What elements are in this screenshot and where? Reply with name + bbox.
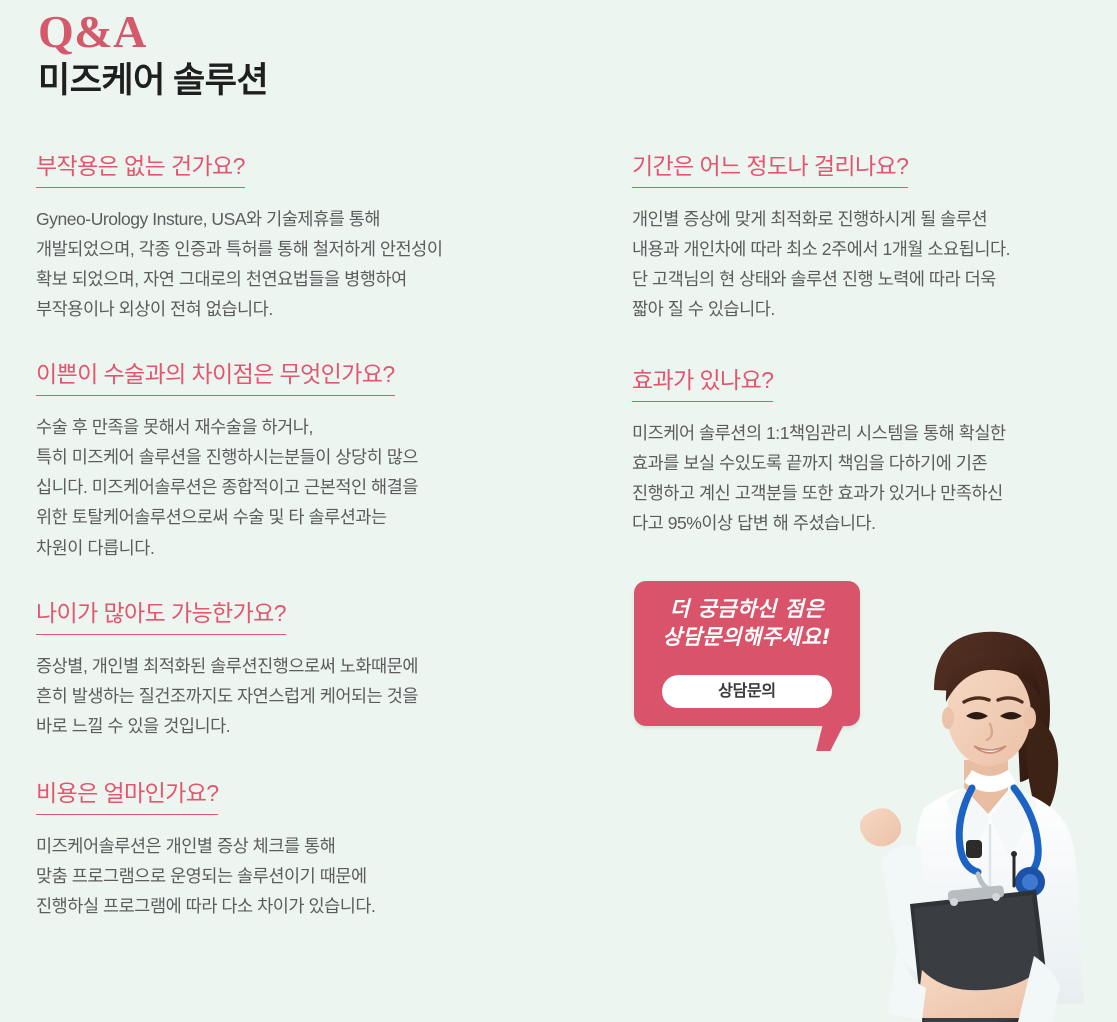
qa-answer: 수술 후 만족을 못해서 재수술을 하거나, 특히 미즈케어 솔루션을 진행하시… — [36, 412, 506, 562]
qa-answer-line: 개인별 증상에 맞게 최적화로 진행하시게 될 솔루션 — [632, 204, 1062, 234]
qa-question[interactable]: 효과가 있나요? — [632, 366, 773, 402]
qa-answer-line: 흔히 발생하는 질건조까지도 자연스럽게 케어되는 것을 — [36, 681, 506, 711]
qa-page: Q&A 미즈케어 솔루션 부작용은 없는 건가요? Gyneo-Urology … — [0, 0, 1117, 1022]
qa-answer-line: 증상별, 개인별 최적화된 솔루션진행으로써 노화때문에 — [36, 651, 506, 681]
qa-answer-line: 특히 미즈케어 솔루션을 진행하시는분들이 상당히 많으 — [36, 442, 506, 472]
qa-answer-line: 차원이 다릅니다. — [36, 533, 506, 563]
qa-item: 나이가 많아도 가능한가요? 증상별, 개인별 최적화된 솔루션진행으로써 노화… — [36, 599, 506, 741]
page-header: Q&A 미즈케어 솔루션 — [38, 8, 268, 102]
qa-answer-line: 확보 되었으며, 자연 그대로의 천연요법들을 병행하여 — [36, 264, 506, 294]
qa-answer-line: 미즈케어솔루션은 개인별 증상 체크를 통해 — [36, 831, 506, 861]
bubble-line-2: 상담문의해주세요! — [634, 623, 860, 651]
consultation-button[interactable]: 상담문의 — [662, 675, 832, 708]
qa-answer-line: 미즈케어 솔루션의 1:1책임관리 시스템을 통해 확실한 — [632, 418, 1062, 448]
page-subtitle: 미즈케어 솔루션 — [38, 60, 268, 102]
qa-item: 이쁜이 수술과의 차이점은 무엇인가요? 수술 후 만족을 못해서 재수술을 하… — [36, 360, 506, 562]
qa-answer-line: 짧아 질 수 있습니다. — [632, 294, 1062, 324]
qa-answer-line: 십니다. 미즈케어솔루션은 종합적이고 근본적인 해결을 — [36, 472, 506, 502]
qa-question[interactable]: 비용은 얼마인가요? — [36, 779, 218, 815]
qa-answer-line: 개발되었으며, 각종 인증과 특허를 통해 철저하게 안전성이 — [36, 234, 506, 264]
qa-item: 효과가 있나요? 미즈케어 솔루션의 1:1책임관리 시스템을 통해 확실한 효… — [632, 366, 1062, 538]
qa-answer: 개인별 증상에 맞게 최적화로 진행하시게 될 솔루션 내용과 개인차에 따라 … — [632, 204, 1062, 324]
qa-question[interactable]: 이쁜이 수술과의 차이점은 무엇인가요? — [36, 360, 395, 396]
qa-question[interactable]: 부작용은 없는 건가요? — [36, 152, 245, 188]
qa-answer-line: 부작용이나 외상이 전혀 없습니다. — [36, 294, 506, 324]
qa-answer-line: 진행하고 계신 고객분들 또한 효과가 있거나 만족하신 — [632, 478, 1062, 508]
bubble-line-1: 더 궁금하신 점은 — [634, 595, 860, 623]
qa-column-right: 기간은 어느 정도나 걸리나요? 개인별 증상에 맞게 최적화로 진행하시게 될… — [632, 152, 1062, 573]
doctor-photo — [838, 612, 1117, 1022]
qa-answer: 미즈케어 솔루션의 1:1책임관리 시스템을 통해 확실한 효과를 보실 수있도… — [632, 418, 1062, 538]
qa-answer-line: Gyneo-Urology Insture, USA와 기술제휴를 통해 — [36, 204, 506, 234]
qa-item: 비용은 얼마인가요? 미즈케어솔루션은 개인별 증상 체크를 통해 맞춤 프로그… — [36, 779, 506, 921]
qa-question[interactable]: 나이가 많아도 가능한가요? — [36, 599, 286, 635]
qa-item: 기간은 어느 정도나 걸리나요? 개인별 증상에 맞게 최적화로 진행하시게 될… — [632, 152, 1062, 324]
qa-answer-line: 위한 토탈케어솔루션으로써 수술 및 타 솔루션과는 — [36, 502, 506, 532]
doctor-illustration-icon — [838, 612, 1117, 1022]
qa-answer: Gyneo-Urology Insture, USA와 기술제휴를 통해 개발되… — [36, 204, 506, 324]
qa-answer: 증상별, 개인별 최적화된 솔루션진행으로써 노화때문에 흔히 발생하는 질건조… — [36, 651, 506, 741]
qa-answer-line: 단 고객님의 현 상태와 솔루션 진행 노력에 따라 더욱 — [632, 264, 1062, 294]
qa-question[interactable]: 기간은 어느 정도나 걸리나요? — [632, 152, 908, 188]
qa-item: 부작용은 없는 건가요? Gyneo-Urology Insture, USA와… — [36, 152, 506, 324]
qa-column-left: 부작용은 없는 건가요? Gyneo-Urology Insture, USA와… — [36, 152, 506, 955]
qa-answer-line: 바로 느낄 수 있을 것입니다. — [36, 711, 506, 741]
consultation-callout: 더 궁금하신 점은 상담문의해주세요! 상담문의 — [634, 581, 860, 726]
qa-answer-line: 진행하실 프로그램에 따라 다소 차이가 있습니다. — [36, 891, 506, 921]
page-title: Q&A — [38, 8, 268, 56]
qa-answer-line: 수술 후 만족을 못해서 재수술을 하거나, — [36, 412, 506, 442]
qa-answer-line: 맞춤 프로그램으로 운영되는 솔루션이기 때문에 — [36, 861, 506, 891]
qa-answer-line: 내용과 개인차에 따라 최소 2주에서 1개월 소요됩니다. — [632, 234, 1062, 264]
qa-answer-line: 다고 95%이상 답변 해 주셨습니다. — [632, 508, 1062, 538]
qa-answer-line: 효과를 보실 수있도록 끝까지 책임을 다하기에 기존 — [632, 448, 1062, 478]
speech-bubble-text: 더 궁금하신 점은 상담문의해주세요! — [634, 595, 860, 652]
qa-answer: 미즈케어솔루션은 개인별 증상 체크를 통해 맞춤 프로그램으로 운영되는 솔루… — [36, 831, 506, 921]
